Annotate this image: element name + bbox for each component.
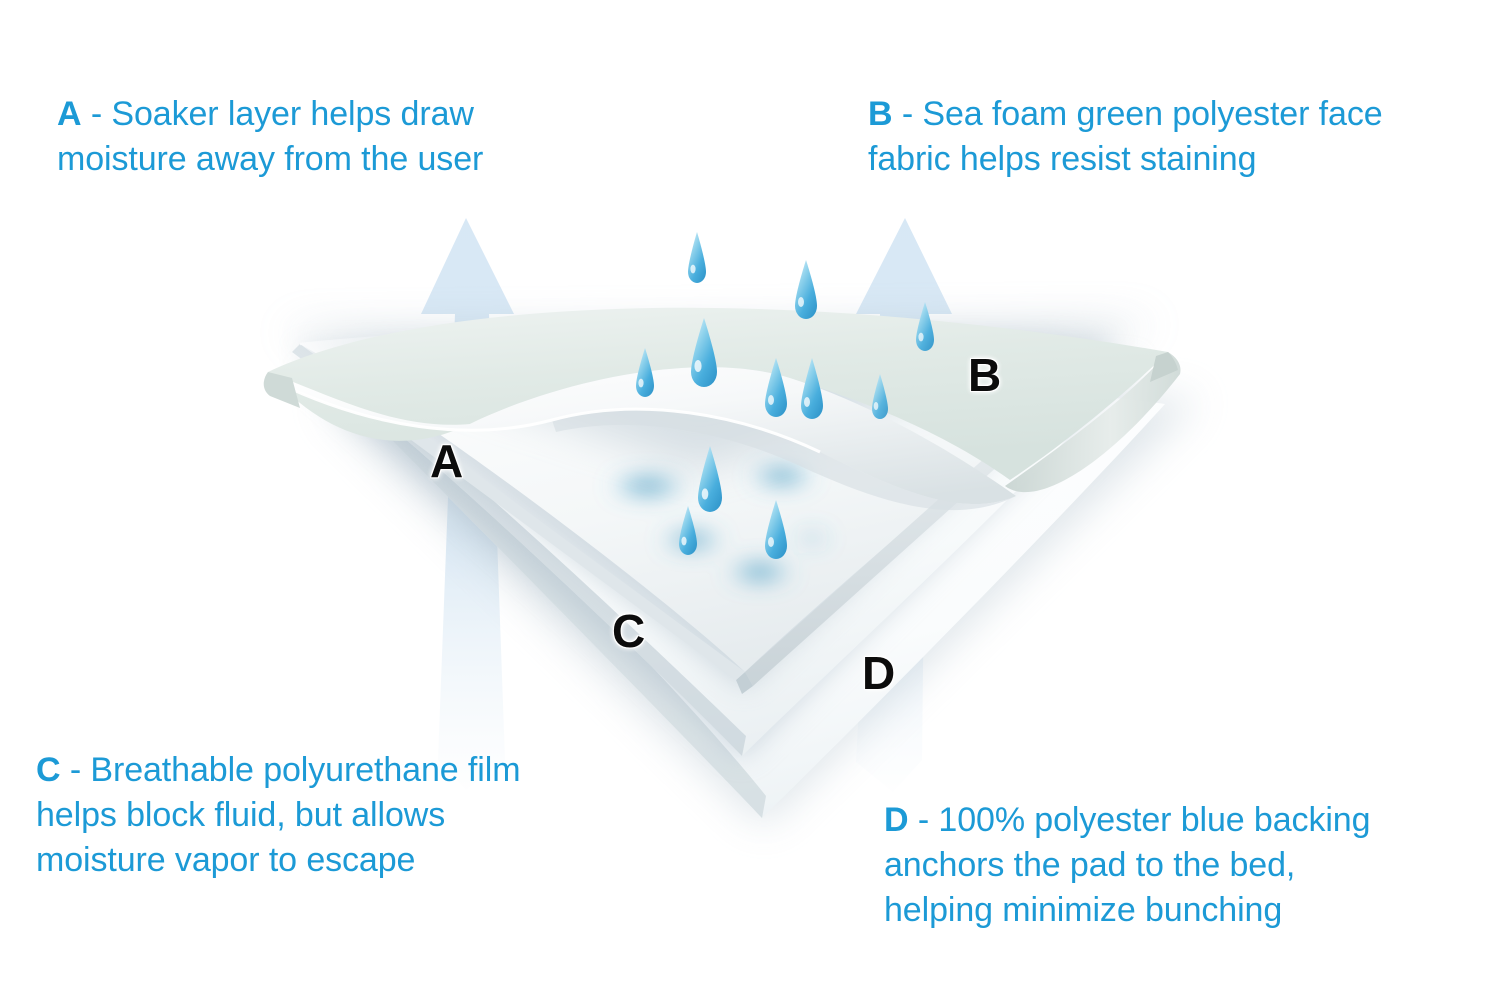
caption-b-text: Sea foam green polyester face fabric hel… bbox=[868, 95, 1383, 178]
layer-marker-c: C bbox=[612, 608, 645, 654]
caption-c: C - Breathable polyurethane film helps b… bbox=[36, 748, 676, 883]
water-droplet bbox=[795, 260, 817, 319]
caption-c-key: C bbox=[36, 751, 60, 789]
caption-b: B - Sea foam green polyester face fabric… bbox=[868, 92, 1498, 182]
layer-marker-d: D bbox=[862, 650, 895, 696]
water-droplet bbox=[688, 232, 706, 283]
caption-d-dash: - bbox=[908, 801, 938, 839]
caption-a-text: Soaker layer helps draw moisture away fr… bbox=[57, 95, 483, 178]
caption-d-key: D bbox=[884, 801, 908, 839]
caption-b-dash: - bbox=[892, 95, 922, 133]
caption-c-text: Breathable polyurethane film helps block… bbox=[36, 751, 520, 879]
caption-a: A - Soaker layer helps draw moisture awa… bbox=[57, 92, 697, 182]
caption-d: D - 100% polyester blue backing anchors … bbox=[884, 798, 1500, 933]
layer-marker-b: B bbox=[968, 352, 1001, 398]
caption-c-dash: - bbox=[60, 751, 90, 789]
caption-a-key: A bbox=[57, 95, 81, 133]
caption-b-key: B bbox=[868, 95, 892, 133]
layer-marker-a: A bbox=[430, 438, 463, 484]
caption-a-dash: - bbox=[81, 95, 111, 133]
diagram-canvas: A B C D A - Soaker layer helps draw mois… bbox=[0, 0, 1500, 986]
caption-d-text: 100% polyester blue backing anchors the … bbox=[884, 801, 1370, 929]
